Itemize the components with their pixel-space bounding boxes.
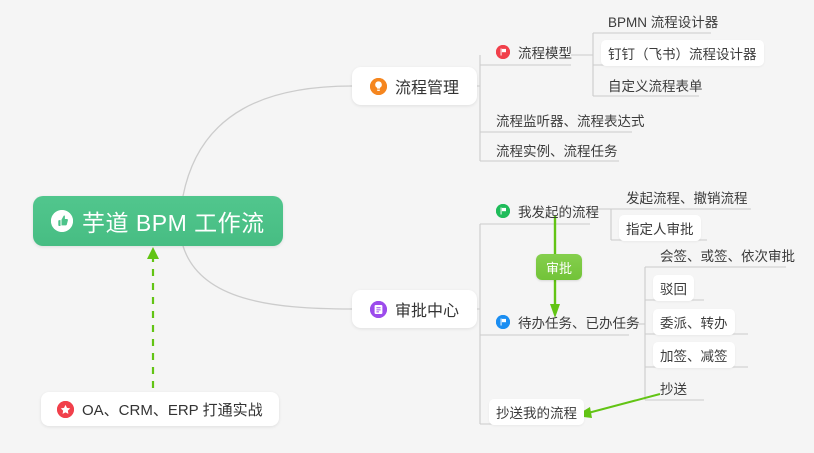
lightbulb-icon (370, 78, 387, 95)
node-todo-done-tasks[interactable]: 待办任务、已办任务 (489, 309, 647, 335)
node-custom-form[interactable]: 自定义流程表单 (601, 72, 710, 98)
node-label: 会签、或签、依次审批 (660, 245, 795, 265)
cc-relation-arrow (575, 394, 660, 418)
node-bpmn-designer[interactable]: BPMN 流程设计器 (601, 8, 725, 34)
footer-note[interactable]: OA、CRM、ERP 打通实战 (41, 392, 279, 426)
footer-note-label: OA、CRM、ERP 打通实战 (82, 399, 263, 420)
node-label: 加签、减签 (660, 345, 728, 365)
node-countersign[interactable]: 会签、或签、依次审批 (653, 242, 802, 268)
footer-note-arrow (147, 247, 159, 388)
node-process-instance[interactable]: 流程实例、流程任务 (489, 137, 625, 163)
branch-approval-center[interactable]: 审批中心 (352, 290, 477, 328)
node-label: 委派、转办 (660, 312, 728, 332)
approval-badge[interactable]: 审批 (536, 254, 582, 280)
node-start-cancel-process[interactable]: 发起流程、撤销流程 (619, 184, 755, 210)
clipboard-icon (370, 301, 387, 318)
node-label: BPMN 流程设计器 (608, 11, 718, 31)
node-process-listener[interactable]: 流程监听器、流程表达式 (489, 107, 652, 133)
node-label: 发起流程、撤销流程 (626, 187, 748, 207)
link-root-to-approval-center (183, 246, 352, 309)
node-label: 指定人审批 (626, 218, 694, 238)
flag-icon (496, 315, 510, 329)
flag-icon (496, 45, 510, 59)
badge-label: 审批 (546, 258, 572, 277)
node-label: 流程模型 (518, 42, 572, 62)
node-label: 流程实例、流程任务 (496, 140, 618, 160)
link-root-to-process-management (183, 86, 352, 196)
node-add-remove-sign[interactable]: 加签、减签 (653, 342, 735, 368)
branch-process-management[interactable]: 流程管理 (352, 67, 477, 105)
branch-label: 审批中心 (395, 297, 459, 321)
node-delegate-transfer[interactable]: 委派、转办 (653, 309, 735, 335)
star-icon (57, 401, 74, 418)
root-label: 芋道 BPM 工作流 (82, 204, 265, 238)
node-cc-to-me-process[interactable]: 抄送我的流程 (489, 399, 584, 425)
node-label: 待办任务、已办任务 (518, 312, 640, 332)
node-label: 抄送 (660, 378, 687, 398)
thumbs-up-icon (51, 210, 73, 232)
node-label: 驳回 (660, 278, 687, 298)
flag-icon (496, 204, 510, 218)
node-label: 抄送我的流程 (496, 402, 577, 422)
branch-label: 流程管理 (395, 74, 459, 98)
node-reject[interactable]: 驳回 (653, 275, 694, 301)
node-assignee-approve[interactable]: 指定人审批 (619, 215, 701, 241)
root-node[interactable]: 芋道 BPM 工作流 (33, 196, 283, 246)
node-label: 钉钉（飞书）流程设计器 (608, 43, 757, 63)
node-dingtalk-designer[interactable]: 钉钉（飞书）流程设计器 (601, 40, 764, 66)
node-label: 自定义流程表单 (608, 75, 703, 95)
node-cc[interactable]: 抄送 (653, 375, 694, 401)
node-label: 流程监听器、流程表达式 (496, 110, 645, 130)
mindmap-canvas: 芋道 BPM 工作流 流程管理 流程模型 BPMN 流程设计器 钉钉（飞书）流程… (0, 0, 814, 453)
node-process-model[interactable]: 流程模型 (489, 39, 579, 65)
node-label: 我发起的流程 (518, 201, 599, 221)
node-my-started-process[interactable]: 我发起的流程 (489, 198, 606, 224)
